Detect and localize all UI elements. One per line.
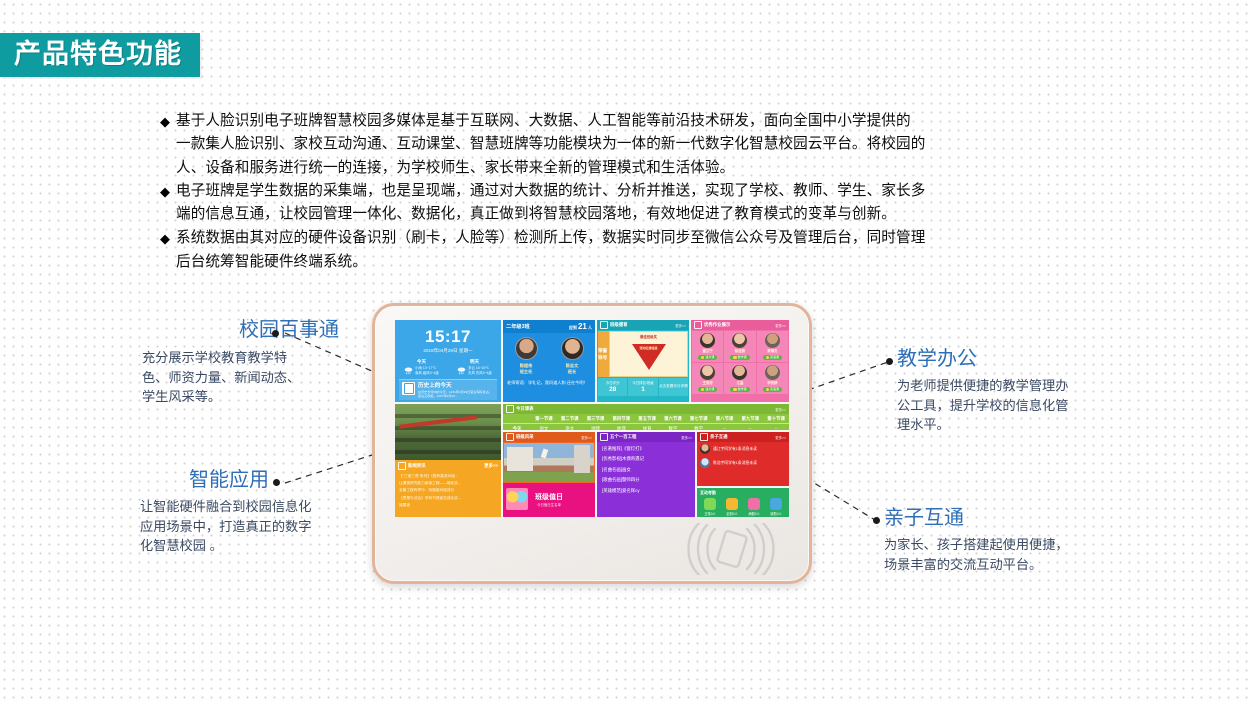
- callout-teaching-office: 教学办公 为老师提供便捷的教学管理办 公工具，提升学校的信息化管 理水平。: [897, 347, 1127, 435]
- honor-more-link[interactable]: 更多>>: [675, 323, 686, 328]
- callout-line: 充分展示学校教育教学特: [142, 348, 357, 368]
- weather-tomorrow-label: 明天: [448, 358, 501, 365]
- parent-message-text: 通江宇同学有1条消息未读: [713, 446, 757, 452]
- style-title: 班级风采: [516, 434, 534, 439]
- callout-line: 色、师资力量、新闻动态、: [142, 368, 357, 388]
- app-item[interactable]: 病假0人: [748, 498, 760, 517]
- schedule-cell: --: [737, 424, 763, 431]
- callout-line: 应用场景中，打造真正的数字: [140, 517, 360, 537]
- callout-body: 为老师提供便捷的教学管理办 公工具，提升学校的信息化管 理水平。: [897, 376, 1127, 435]
- parent-message-text: 陈浩宇同学有1条消息未读: [713, 460, 757, 466]
- project-list: [名著推荐]《窗灯打》 [优秀影视]木偶奇遇记 [名曲名画]画女 [歌曲名画]暨…: [597, 442, 695, 498]
- clock-date: 2019年04月29日 星期一: [395, 347, 501, 355]
- tablet-screen: 15:17 2019年04月29日 星期一 今天: [395, 320, 789, 517]
- homework-more-link[interactable]: 更多>>: [775, 323, 786, 328]
- clock-time: 15:17: [395, 326, 501, 347]
- schedule-table: 第一节课 第二节课 第三节课 第四节课 第五节课 第六节课 第七节课 第八节课 …: [503, 414, 789, 430]
- book-icon: [402, 382, 415, 395]
- attendance-sick-icon: [748, 498, 760, 510]
- project-item[interactable]: [名著推荐]《窗灯打》: [602, 444, 690, 454]
- callout-line: 公工具，提升学校的信息化管: [897, 396, 1127, 416]
- news-item[interactable]: 让课堂研究能力阅读工程——城北实...: [399, 480, 497, 487]
- attendance-normal-icon: [704, 498, 716, 510]
- schedule-cell: 数学: [686, 424, 712, 431]
- homework-item[interactable]: 翟兰宁 语文课: [692, 331, 723, 362]
- stat-value: 28: [609, 386, 616, 394]
- day-label: 今天: [503, 424, 531, 431]
- bullet-line: 后台统筹智能硬件终端系统。: [176, 251, 925, 274]
- homework-item[interactable]: 江晶 数学课: [724, 363, 755, 394]
- bullet-line: 端的信息互通，让校园管理一体化、数据化，真正做到将智慧校园落地，有效地促进了教育…: [176, 203, 925, 226]
- excellent-homework-card[interactable]: 优秀作业展示 更多>> 翟兰宁 语文课 陈佳丽 数学课: [691, 320, 789, 402]
- style-photo: [504, 443, 594, 482]
- callout-title: 教学办公: [897, 347, 1127, 371]
- app-label: 病假0人: [748, 511, 760, 517]
- page-title: 产品特色功能: [14, 39, 182, 69]
- tablet-device: 15:17 2019年04月29日 星期一 今天: [372, 303, 812, 584]
- avatar: [765, 365, 780, 380]
- weather-today: 今天 小雨 13~17℃ 南风 级风3~4级: [395, 358, 448, 375]
- style-more-link[interactable]: 更多>>: [581, 435, 592, 440]
- honor-detail-link[interactable]: 点击查看评分详情: [659, 378, 688, 396]
- news-item[interactable]: 名篇工程有举行：特邀组对促成长: [399, 487, 497, 494]
- staff-role: 班长: [552, 369, 592, 375]
- teacher-message: 老师寄语：学礼记，我问道人和 还在今明！: [503, 375, 595, 386]
- honor-stats: 今日评分 28 今日排名/班级 1 点击查看评分详情: [598, 378, 688, 396]
- news-title: 新闻资讯: [408, 463, 426, 468]
- speaker-icon: [398, 462, 406, 470]
- flag-icon: [600, 321, 608, 329]
- weather-today-label: 今天: [395, 358, 448, 365]
- period-header: 第七节课: [686, 414, 712, 424]
- weather-tomorrow: 明天 多云 16~20℃ 东风 东风3~4级: [448, 358, 501, 375]
- app-item[interactable]: 缺勤0人: [770, 498, 782, 517]
- nfc-card-icon: [681, 523, 781, 575]
- period-header: 第五节课: [634, 414, 660, 424]
- play-icon: [600, 433, 608, 441]
- bullet-line: 基于人脸识别电子班牌智慧校园多媒体是基于互联网、大数据、人工智能等前沿技术研发，…: [176, 110, 925, 133]
- homework-item[interactable]: 李悦婷 英语课: [757, 363, 788, 394]
- stat-value: 1: [641, 386, 645, 394]
- avatar: [700, 333, 715, 348]
- staff-name: 陈志文: [552, 362, 592, 369]
- honor-banner-box: 最佳班级奖 流动红旗班级: [609, 331, 688, 377]
- project-more-link[interactable]: 更多>>: [681, 435, 692, 440]
- callout-line: 让智能硬件融合到校园信息化: [140, 497, 360, 517]
- duty-title: 班级值日: [535, 493, 563, 503]
- bullet-item: ◆ 系统数据由其对应的硬件设备识别（刷卡，人脸等）检测所上传，数据实时同步至微信…: [160, 227, 990, 274]
- schedule-cell: --: [712, 424, 738, 431]
- dot-icon: [766, 356, 769, 359]
- period-header: 第三节课: [583, 414, 609, 424]
- class-attendance: 应到 21 人: [569, 322, 592, 331]
- subject-tag: 语文课: [698, 387, 717, 392]
- avatar: [700, 458, 710, 468]
- schedule-cell: 数学: [660, 424, 686, 431]
- schedule-card-header: 今日课表 更多>>: [503, 404, 789, 414]
- project-item[interactable]: [优秀影视]木偶奇遇记: [602, 454, 690, 464]
- class-info-card[interactable]: 二年级3班 应到 21 人 陈超伟 班主任 陈志文: [503, 320, 595, 402]
- duty-students-icon: [506, 488, 528, 510]
- student-name: 陈佳丽: [735, 349, 745, 354]
- weather-row: 今天 小雨 13~17℃ 南风 级风3~4级: [395, 358, 501, 375]
- schedule-cell: 语文: [557, 424, 583, 431]
- news-item[interactable]: 《思想与法治》学科书语省在成北实...: [399, 495, 497, 502]
- apps-grid: 正常0人 迟到0人 病假0人: [697, 496, 789, 517]
- bullet-diamond-icon: ◆: [160, 110, 170, 133]
- news-photo: [395, 404, 501, 460]
- subject-tag: 语文课: [698, 355, 717, 360]
- student-name: 李悦婷: [767, 381, 777, 386]
- bottom-right-stack: 今日课表 更多>> 第一节课 第二节课 第三节课 第四节课 第五节课 第六节课: [503, 404, 789, 517]
- callout-dot-smart-app: [273, 479, 280, 486]
- bottom-cards-row: 班级风采 更多>> 班级值日 今日值日生名单: [503, 432, 789, 517]
- period-header: 第十节课: [763, 414, 789, 424]
- student-name: 王思妤: [703, 381, 713, 386]
- homework-card-header: 优秀作业展示 更多>>: [691, 320, 789, 330]
- apps-title: 互动考勤: [697, 488, 789, 496]
- pennant-text: 流动红旗班级: [636, 346, 662, 350]
- image-icon: [506, 433, 514, 441]
- avatar: [561, 337, 584, 360]
- weather-today-line: 南风 级风3~4级: [415, 371, 439, 376]
- weather-tomorrow-line: 东风 东风3~4级: [468, 371, 492, 376]
- schedule-cell: 地理: [583, 424, 609, 431]
- schedule-cell: --: [763, 424, 789, 431]
- honor-main: 荣誉称号 最佳班级奖 流动红旗班级: [598, 331, 688, 377]
- subject-tag: 英语课: [763, 387, 782, 392]
- dot-icon: [701, 388, 704, 391]
- bullet-item: ◆ 电子班牌是学生数据的采集端，也是呈现端，通过对大数据的统计、分析并推送，实现…: [160, 180, 990, 227]
- chat-icon: [700, 433, 708, 441]
- callout-line: 为老师提供便捷的教学管理办: [897, 376, 1127, 396]
- app-label: 缺勤0人: [770, 511, 782, 517]
- news-item[interactable]: 【“三室三真”系列】《国有高效对阅...: [399, 473, 497, 480]
- screen-bottom-row: 新闻资讯 更多>> 【“三室三真”系列】《国有高效对阅... 让课堂研究能力阅读…: [395, 404, 789, 517]
- period-header: 第九节课: [737, 414, 763, 424]
- attendance-count: 21: [578, 322, 587, 331]
- avatar: [765, 333, 780, 348]
- project-card-header: 五个一百工程 更多>>: [597, 432, 695, 442]
- news-more-link[interactable]: 更多>>: [484, 463, 498, 469]
- callout-line: 场景丰富的交流互动平台。: [884, 555, 1119, 575]
- callout-body: 为家长、孩子搭建起使用便捷， 场景丰富的交流互动平台。: [884, 535, 1119, 574]
- honor-box-title: 最佳班级奖: [610, 334, 687, 339]
- parent-more-link[interactable]: 更多>>: [775, 435, 786, 440]
- honor-card-header: 班级德育 更多>>: [597, 320, 689, 330]
- period-header: 第四节课: [608, 414, 634, 424]
- callout-body: 充分展示学校教育教学特 色、师资力量、新闻动态、 学生风采等。: [142, 348, 357, 407]
- bullet-text: 基于人脸识别电子班牌智慧校园多媒体是基于互联网、大数据、人工智能等前沿技术研发，…: [176, 110, 925, 180]
- feature-description-list: ◆ 基于人脸识别电子班牌智慧校园多媒体是基于互联网、大数据、人工智能等前沿技术研…: [160, 110, 990, 275]
- project-item[interactable]: [歌曲名画]暨师四分: [602, 475, 690, 485]
- parent-message-card[interactable]: 亲子互通 更多>> 通江宇同学有1条消息未读 陈浩宇同学有1条消息未读: [697, 432, 789, 486]
- bullet-diamond-icon: ◆: [160, 227, 170, 250]
- avatar: [732, 333, 747, 348]
- history-today-block[interactable]: 历史上的今天 在历史长河中的今天，1231年4月29日蒙古军队攻占，蒙古又攻陷，…: [399, 379, 497, 400]
- student-name: 翟兰宁: [703, 349, 713, 354]
- callout-line: 化智慧校园 。: [140, 536, 360, 556]
- honor-stat-item: 今日评分 28: [598, 378, 627, 396]
- avatar: [700, 365, 715, 380]
- avatar: [732, 365, 747, 380]
- style-card-header: 班级风采 更多>>: [503, 432, 595, 442]
- schedule-cell: 地理: [608, 424, 634, 431]
- homework-grid: 翟兰宁 语文课 陈佳丽 数学课 黄锦杰 英语课: [691, 330, 789, 395]
- avatar: [700, 444, 710, 454]
- avatar: [515, 337, 538, 360]
- class-card-header: 二年级3班 应到 21 人: [503, 320, 595, 333]
- callout-title: 亲子互通: [884, 506, 1119, 530]
- bullet-line: 电子班牌是学生数据的采集端，也是呈现端，通过对大数据的统计、分析并推送，实现了学…: [176, 180, 925, 203]
- callout-dot-teaching-office: [886, 358, 893, 365]
- homework-item[interactable]: 黄锦杰 英语课: [757, 331, 788, 362]
- period-header: 第八节课: [712, 414, 738, 424]
- class-duty-card[interactable]: 班级值日 今日值日生名单: [503, 483, 595, 517]
- parent-message-item[interactable]: 陈浩宇同学有1条消息未读: [697, 456, 789, 470]
- duty-subtitle: 今日值日生名单: [535, 503, 563, 508]
- callout-body: 让智能硬件融合到校园信息化 应用场景中，打造真正的数字 化智慧校园 。: [140, 497, 360, 556]
- rain-cloud-icon: [457, 366, 466, 375]
- five-hundred-project-card[interactable]: 五个一百工程 更多>> [名著推荐]《窗灯打》 [优秀影视]木偶奇遇记 [名曲名…: [597, 432, 695, 517]
- class-moral-education-card[interactable]: 班级德育 更多>> 荣誉称号 最佳班级奖 流动红旗班级 今日评分 28: [597, 320, 689, 402]
- honor-title: 班级德育: [610, 322, 628, 327]
- honor-stat-item: 今日排名/班级 1: [628, 378, 657, 396]
- homework-title: 优秀作业展示: [704, 322, 730, 327]
- today-schedule-card[interactable]: 今日课表 更多>> 第一节课 第二节课 第三节课 第四节课 第五节课 第六节课: [503, 404, 789, 430]
- clock-weather-card[interactable]: 15:17 2019年04月29日 星期一 今天: [395, 320, 501, 402]
- calendar-icon: [506, 405, 514, 413]
- bullet-line: 人、设备和服务进行统一的连接，为学校师生、家长带来全新的管理模式和生活体验。: [176, 157, 925, 180]
- staff-name: 陈超伟: [506, 362, 546, 369]
- period-header: 第六节课: [660, 414, 686, 424]
- callout-title: 校园百事通: [142, 318, 357, 342]
- bullet-text: 系统数据由其对应的硬件设备识别（刷卡，人脸等）检测所上传，数据实时同步至微信公众…: [176, 227, 925, 274]
- dot-icon: [701, 356, 704, 359]
- homework-item[interactable]: 陈佳丽 数学课: [724, 331, 755, 362]
- attendance-apps-card[interactable]: 互动考勤 正常0人 迟到0人: [697, 488, 789, 517]
- attendance-late-icon: [726, 498, 738, 510]
- attendance-absent-icon: [770, 498, 782, 510]
- callout-title: 智能应用: [140, 468, 360, 492]
- class-staff-item[interactable]: 陈超伟 班主任: [506, 337, 546, 375]
- parent-card-header: 亲子互通 更多>>: [697, 432, 789, 442]
- class-style-card[interactable]: 班级风采 更多>> 班级值日 今日值日生名单: [503, 432, 595, 517]
- callout-dot-campus-info: [272, 330, 279, 337]
- section-banner: 产品特色功能: [0, 33, 200, 77]
- schedule-more-link[interactable]: 更多>>: [775, 407, 786, 412]
- callout-line: 理水平。: [897, 415, 1127, 435]
- news-card[interactable]: 新闻资讯 更多>> 【“三室三真”系列】《国有高效对阅... 让课堂研究能力阅读…: [395, 404, 501, 517]
- history-title: 历史上的今天: [418, 382, 494, 390]
- callout-line: 为家长、孩子搭建起使用便捷，: [884, 535, 1119, 555]
- callout-parent-child: 亲子互通 为家长、孩子搭建起使用便捷， 场景丰富的交流互动平台。: [884, 506, 1119, 574]
- bullet-diamond-icon: ◆: [160, 180, 170, 203]
- class-staff-list: 陈超伟 班主任 陈志文 班长: [503, 337, 595, 375]
- subject-tag: 数学课: [730, 355, 749, 360]
- schedule-title: 今日课表: [516, 406, 534, 411]
- callout-campus-info: 校园百事通 充分展示学校教育教学特 色、师资力量、新闻动态、 学生风采等。: [142, 318, 357, 407]
- project-item[interactable]: [名曲名画]画女: [602, 465, 690, 475]
- period-header: 第一节课: [531, 414, 557, 424]
- subject-tag: 数学课: [730, 387, 749, 392]
- app-label: 迟到0人: [726, 511, 738, 517]
- subject-tag: 英语课: [763, 355, 782, 360]
- staff-role: 班主任: [506, 369, 546, 375]
- screen-top-row: 15:17 2019年04月29日 星期一 今天: [395, 320, 789, 402]
- bullet-line: 系统数据由其对应的硬件设备识别（刷卡，人脸等）检测所上传，数据实时同步至微信公众…: [176, 227, 925, 250]
- homework-item[interactable]: 王思妤 语文课: [692, 363, 723, 394]
- callout-line: 学生风采等。: [142, 387, 357, 407]
- schedule-cell: 语文: [531, 424, 557, 431]
- schedule-row: 今天 语文 语文 地理 地理 体育 数学 数学 -- -- --: [503, 424, 789, 431]
- bullet-item: ◆ 基于人脸识别电子班牌智慧校园多媒体是基于互联网、大数据、人工智能等前沿技术研…: [160, 110, 990, 180]
- class-name: 二年级3班: [506, 323, 530, 330]
- parent-apps-column: 亲子互通 更多>> 通江宇同学有1条消息未读 陈浩宇同学有1条消息未读: [697, 432, 789, 517]
- period-header: 第二节课: [557, 414, 583, 424]
- history-text: 在历史长河中的今天，1231年4月29日蒙古军队攻占，蒙古又攻陷，1957年4月…: [418, 390, 494, 398]
- weather-tomorrow-line: 多云 16~20℃: [468, 366, 492, 371]
- project-item[interactable]: [英雄模范]爱名辉cy: [602, 486, 690, 496]
- dot-icon: [766, 388, 769, 391]
- pennant-icon: 流动红旗班级: [632, 344, 666, 370]
- bullet-text: 电子班牌是学生数据的采集端，也是呈现端，通过对大数据的统计、分析并推送，实现了学…: [176, 180, 925, 227]
- weather-today-line: 小雨 13~17℃: [415, 366, 439, 371]
- schedule-cell: 体育: [634, 424, 660, 431]
- student-name: 江晶: [737, 381, 744, 386]
- parent-message-item[interactable]: 通江宇同学有1条消息未读: [697, 442, 789, 456]
- app-item[interactable]: 迟到0人: [726, 498, 738, 517]
- attendance-label: 应到: [569, 325, 577, 330]
- star-icon: [694, 321, 702, 329]
- dot-icon: [733, 356, 736, 359]
- bullet-line: 一款集人脸识别、家校互动沟通、互动课堂、智慧班牌等功能模块为一体的新一代数字化智…: [176, 133, 925, 156]
- class-staff-item[interactable]: 陈志文 班长: [552, 337, 592, 375]
- news-card-header: 新闻资讯 更多>>: [395, 460, 501, 472]
- app-item[interactable]: 正常0人: [704, 498, 716, 517]
- parent-title: 亲子互通: [710, 434, 728, 439]
- news-item[interactable]: 阅展读: [399, 502, 497, 509]
- attendance-unit: 人: [588, 325, 592, 330]
- honor-side-label: 荣誉称号: [598, 331, 609, 377]
- schedule-header-row: 第一节课 第二节课 第三节课 第四节课 第五节课 第六节课 第七节课 第八节课 …: [503, 414, 789, 424]
- student-name: 黄锦杰: [767, 349, 777, 354]
- callout-dot-parent-child: [873, 517, 880, 524]
- news-list: 【“三室三真”系列】《国有高效对阅... 让课堂研究能力阅读工程——城北实...…: [395, 472, 501, 510]
- app-label: 正常0人: [704, 511, 716, 517]
- callout-smart-app: 智能应用 让智能硬件融合到校园信息化 应用场景中，打造真正的数字 化智慧校园 。: [140, 468, 360, 556]
- dot-icon: [733, 388, 736, 391]
- rain-cloud-icon: [404, 366, 413, 375]
- project-title: 五个一百工程: [610, 434, 636, 439]
